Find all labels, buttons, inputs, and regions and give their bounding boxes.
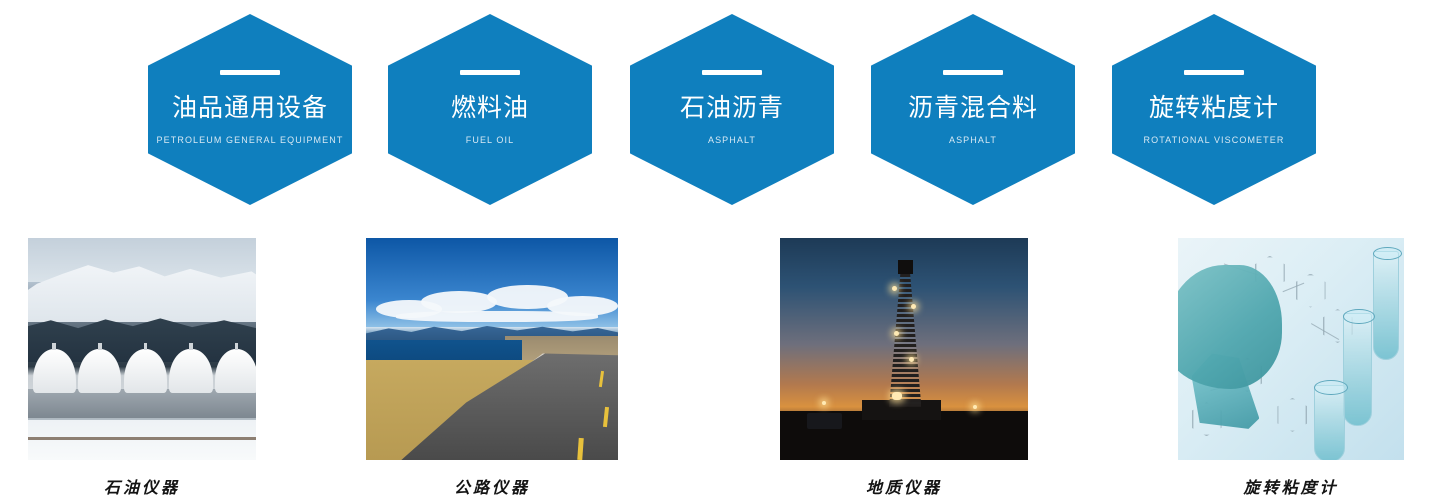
cloud — [396, 311, 598, 322]
divider-rule — [702, 70, 762, 75]
photo-caption: 石油仪器 — [28, 474, 256, 498]
hexagon-subtitle: ASPHALT — [949, 135, 997, 145]
test-tube-rim — [1373, 247, 1402, 260]
test-tube — [1373, 251, 1400, 360]
photo-card-geology[interactable]: 地质仪器 — [780, 238, 1028, 498]
photo-caption: 公路仪器 — [366, 474, 618, 498]
photo-card-viscometer[interactable]: 旋转粘度计 — [1178, 238, 1404, 498]
hexagon-shape: 油品通用设备 PETROLEUM GENERAL EQUIPMENT — [148, 14, 352, 205]
molecule-ring — [1296, 274, 1326, 308]
photo-caption: 地质仪器 — [780, 474, 1028, 498]
hexagon-title: 油品通用设备 — [172, 96, 328, 121]
rig-light — [973, 405, 977, 409]
hexagon-subtitle: ROTATIONAL VISCOMETER — [1144, 135, 1285, 145]
rig-light — [894, 331, 899, 336]
molecule-ring — [1277, 398, 1307, 432]
hexagon-shape: 石油沥青 ASPHALT — [630, 14, 834, 205]
hexagon-title: 旋转粘度计 — [1149, 96, 1279, 121]
photo-caption: 旋转粘度计 — [1178, 474, 1404, 498]
photo-image-highway — [366, 238, 618, 460]
hexagon-card-4[interactable]: 沥青混合料 ASPHALT — [871, 14, 1075, 205]
hexagon-shape: 旋转粘度计 ROTATIONAL VISCOMETER — [1112, 14, 1316, 205]
hexagon-title: 沥青混合料 — [908, 96, 1038, 121]
hexagon-title: 石油沥青 — [680, 96, 784, 121]
hexagon-card-3[interactable]: 石油沥青 ASPHALT — [630, 14, 834, 205]
photo-image-petroleum — [28, 238, 256, 460]
derrick-crown — [898, 260, 913, 273]
photo-image-geology — [780, 238, 1028, 460]
rig-light — [892, 392, 902, 400]
hexagon-card-2[interactable]: 燃料油 FUEL OIL — [388, 14, 592, 205]
hexagon-card-1[interactable]: 油品通用设备 PETROLEUM GENERAL EQUIPMENT — [148, 14, 352, 205]
gloved-hand — [1178, 265, 1282, 389]
rig-light — [892, 286, 897, 291]
hexagon-subtitle: PETROLEUM GENERAL EQUIPMENT — [157, 135, 344, 145]
hexagon-subtitle: FUEL OIL — [466, 135, 514, 145]
test-tube-rim — [1314, 380, 1348, 395]
rail-line — [28, 437, 256, 440]
test-tube — [1343, 313, 1372, 426]
photo-image-viscometer — [1178, 238, 1404, 460]
divider-rule — [460, 70, 520, 75]
test-tube — [1314, 385, 1345, 460]
test-tube-rim — [1343, 309, 1374, 324]
divider-rule — [220, 70, 280, 75]
divider-rule — [1184, 70, 1244, 75]
photo-card-highway[interactable]: 公路仪器 — [366, 238, 618, 498]
divider-rule — [943, 70, 1003, 75]
hexagon-card-5[interactable]: 旋转粘度计 ROTATIONAL VISCOMETER — [1112, 14, 1316, 205]
lake — [366, 340, 522, 362]
product-photo-row: 石油仪器 公路仪器 — [0, 238, 1440, 500]
hexagon-title: 燃料油 — [451, 96, 529, 121]
hexagon-subtitle: ASPHALT — [708, 135, 756, 145]
category-hexagon-row: 油品通用设备 PETROLEUM GENERAL EQUIPMENT 燃料油 F… — [0, 0, 1440, 220]
service-truck — [807, 413, 842, 429]
rig-light — [822, 401, 826, 405]
rig-light — [911, 304, 916, 309]
hexagon-shape: 燃料油 FUEL OIL — [388, 14, 592, 205]
plant-structures — [28, 389, 256, 420]
hexagon-shape: 沥青混合料 ASPHALT — [871, 14, 1075, 205]
photo-card-petroleum[interactable]: 石油仪器 — [28, 238, 256, 498]
